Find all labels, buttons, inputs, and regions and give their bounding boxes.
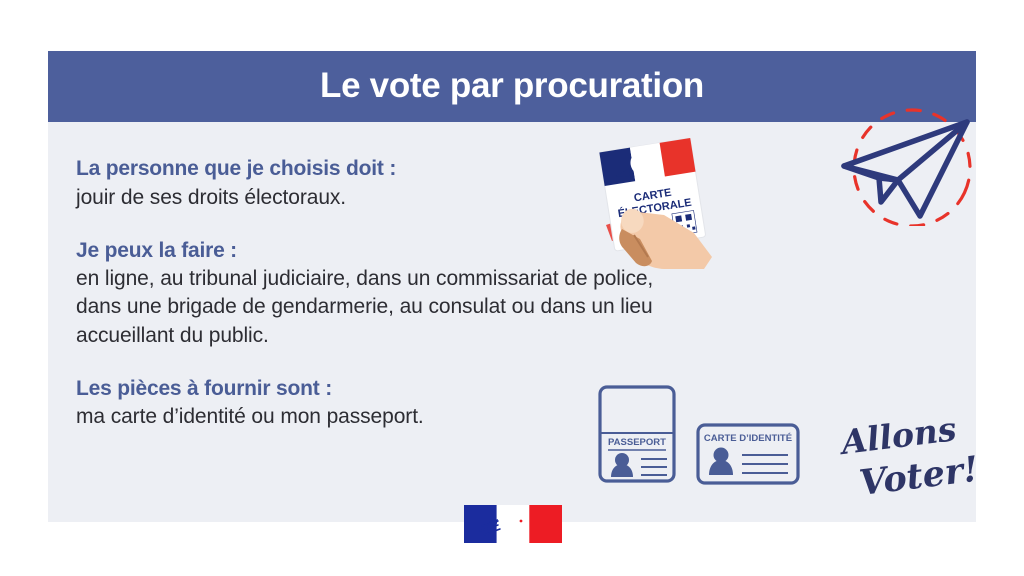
section-personne-choisie: La personne que je choisis doit : jouir … [76, 156, 906, 212]
section-pieces-a-fournir: Les pièces à fournir sont : ma carte d’i… [76, 376, 906, 432]
section-body-line: dans une brigade de gendarmerie, au cons… [76, 293, 906, 321]
section-heading: Les pièces à fournir sont : [76, 376, 906, 402]
section-ou-faire: Je peux la faire : en ligne, au tribunal… [76, 238, 906, 350]
section-body: en ligne, au tribunal judiciaire, dans u… [76, 265, 906, 349]
section-heading: Je peux la faire : [76, 238, 906, 264]
poster-header-bar: Le vote par procuration [48, 51, 976, 122]
section-body-line: accueillant du public. [76, 322, 906, 350]
section-body-line: jouir de ses droits électoraux. [76, 184, 906, 212]
poster-card: Le vote par procuration La personne que … [48, 51, 976, 522]
section-body-line: ma carte d’identité ou mon passeport. [76, 403, 906, 431]
poster-content: La personne que je choisis doit : jouir … [76, 156, 906, 457]
section-body: jouir de ses droits électoraux. [76, 184, 906, 212]
section-body-line: en ligne, au tribunal judiciaire, dans u… [76, 265, 906, 293]
french-republic-marianne-logo [464, 505, 562, 543]
section-body: ma carte d’identité ou mon passeport. [76, 403, 906, 431]
section-heading: La personne que je choisis doit : [76, 156, 906, 182]
page-title: Le vote par procuration [320, 68, 704, 106]
